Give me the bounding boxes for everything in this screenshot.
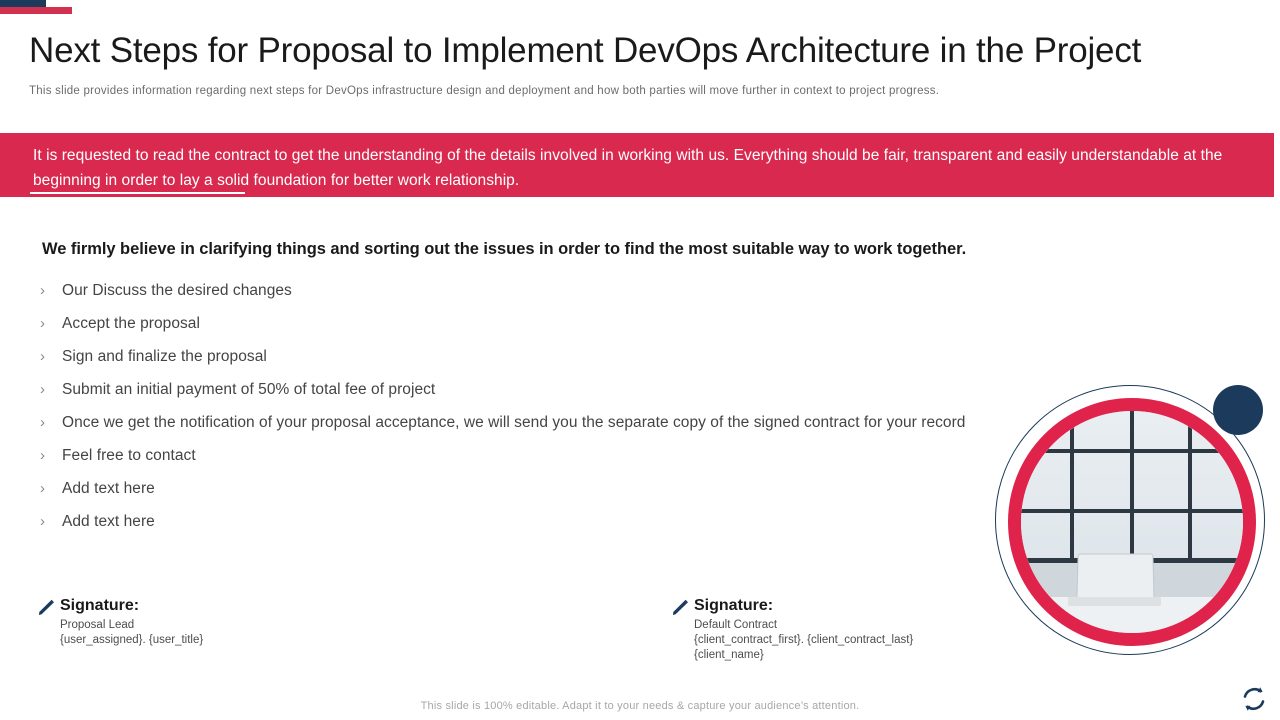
corner-accent-bar-navy bbox=[0, 0, 46, 7]
photo-ring bbox=[1008, 398, 1256, 646]
signature-token: {user_assigned}. {user_title} bbox=[60, 633, 203, 648]
signature-block-proposal-lead: Signature: Proposal Lead {user_assigned}… bbox=[36, 596, 203, 648]
window-mullion bbox=[1188, 411, 1192, 562]
next-steps-list: ›Our Discuss the desired changes›Accept … bbox=[40, 280, 970, 544]
page-subtitle: This slide provides information regardin… bbox=[29, 84, 1129, 99]
list-item: ›Add text here bbox=[40, 478, 970, 500]
list-item-label: Our Discuss the desired changes bbox=[62, 280, 970, 302]
team-photo bbox=[1021, 411, 1243, 633]
list-item: ›Feel free to contact bbox=[40, 445, 970, 467]
callout-text: It is requested to read the contract to … bbox=[33, 143, 1233, 193]
chevron-right-icon: › bbox=[40, 445, 62, 467]
signature-token: {client_name} bbox=[694, 648, 913, 663]
photo-decoration-cluster bbox=[995, 385, 1280, 670]
list-item-label: Feel free to contact bbox=[62, 445, 970, 467]
window-mullion bbox=[1130, 411, 1134, 562]
chevron-right-icon: › bbox=[40, 313, 62, 335]
photo-scene bbox=[1021, 411, 1243, 633]
list-item: ›Add text here bbox=[40, 511, 970, 533]
list-item: ›Sign and finalize the proposal bbox=[40, 346, 970, 368]
signature-block-default-contract: Signature: Default Contract {client_cont… bbox=[670, 596, 913, 663]
chevron-right-icon: › bbox=[40, 478, 62, 500]
list-item: ›Once we get the notification of your pr… bbox=[40, 412, 970, 434]
signature-token: {client_contract_first}. {client_contrac… bbox=[694, 633, 913, 648]
pen-icon bbox=[670, 598, 690, 618]
footer-note: This slide is 100% editable. Adapt it to… bbox=[0, 700, 1280, 712]
list-item: ›Our Discuss the desired changes bbox=[40, 280, 970, 302]
signature-heading: Signature: bbox=[694, 596, 913, 616]
signature-role: Default Contract bbox=[694, 618, 913, 633]
laptop-screen bbox=[1076, 554, 1155, 602]
chevron-right-icon: › bbox=[40, 379, 62, 401]
list-item-label: Add text here bbox=[62, 478, 970, 500]
pen-icon bbox=[36, 598, 56, 618]
list-item: ›Accept the proposal bbox=[40, 313, 970, 335]
window-mullion bbox=[1021, 509, 1243, 513]
list-item-label: Accept the proposal bbox=[62, 313, 970, 335]
refresh-icon[interactable] bbox=[1238, 683, 1270, 715]
chevron-right-icon: › bbox=[40, 346, 62, 368]
window-mullion bbox=[1070, 411, 1074, 562]
callout-banner: It is requested to read the contract to … bbox=[0, 133, 1274, 197]
signature-heading: Signature: bbox=[60, 596, 203, 616]
list-item: ›Submit an initial payment of 50% of tot… bbox=[40, 379, 970, 401]
lead-statement: We firmly believe in clarifying things a… bbox=[42, 238, 1112, 260]
corner-accent-bar-red bbox=[0, 7, 72, 14]
page-title: Next Steps for Proposal to Implement Dev… bbox=[29, 30, 1229, 72]
chevron-right-icon: › bbox=[40, 412, 62, 434]
chevron-right-icon: › bbox=[40, 511, 62, 533]
laptop-base bbox=[1068, 597, 1161, 606]
chevron-right-icon: › bbox=[40, 280, 62, 302]
list-item-label: Once we get the notification of your pro… bbox=[62, 412, 970, 434]
list-item-label: Sign and finalize the proposal bbox=[62, 346, 970, 368]
callout-underline bbox=[30, 192, 245, 194]
list-item-label: Add text here bbox=[62, 511, 970, 533]
window-mullion bbox=[1021, 449, 1243, 453]
list-item-label: Submit an initial payment of 50% of tota… bbox=[62, 379, 970, 401]
signature-role: Proposal Lead bbox=[60, 618, 203, 633]
